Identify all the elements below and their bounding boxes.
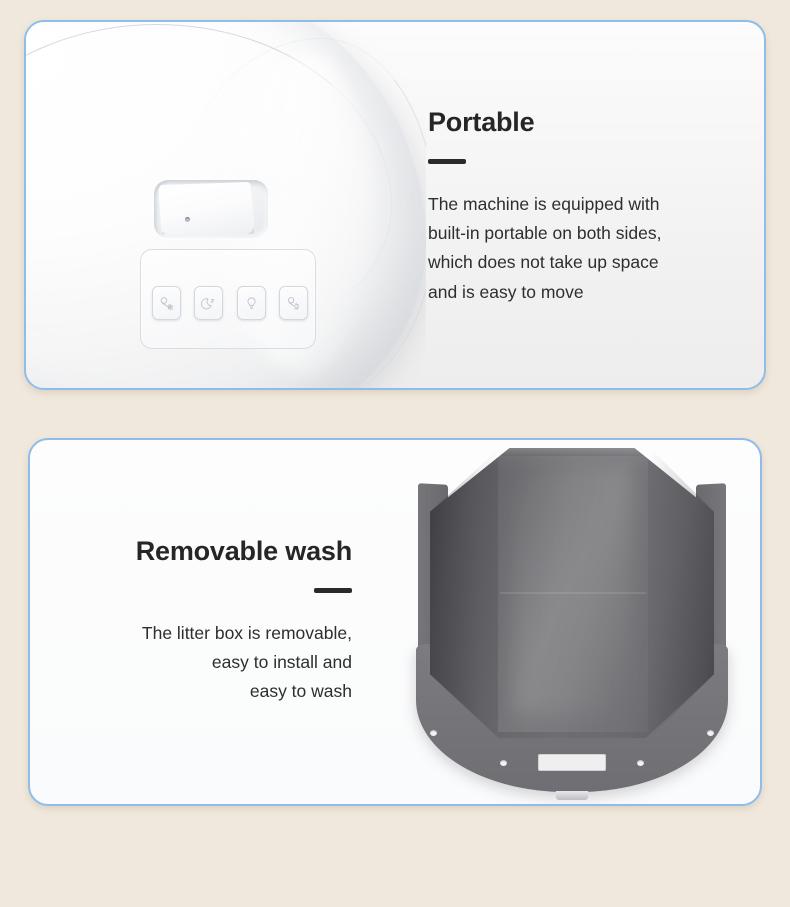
screw-hole-icon bbox=[500, 760, 507, 766]
pet-detect-button[interactable] bbox=[279, 286, 308, 320]
litter-robot-illustration bbox=[26, 22, 426, 388]
screw-hole-icon bbox=[707, 730, 714, 736]
drawer-release-tab[interactable] bbox=[556, 791, 588, 800]
page-title: Removable wash bbox=[52, 535, 352, 567]
page-title: Portable bbox=[428, 106, 758, 138]
product-feature-page: Portable The machine is equipped with bu… bbox=[0, 0, 790, 907]
drawer-label-patch bbox=[538, 754, 606, 771]
title-divider bbox=[314, 588, 352, 593]
removable-wash-text-block: Removable wash The litter box is removab… bbox=[52, 535, 352, 707]
paw-clean-icon bbox=[158, 295, 175, 312]
control-panel-buttons bbox=[152, 284, 308, 322]
night-light-button[interactable] bbox=[237, 286, 266, 320]
light-bulb-icon bbox=[243, 295, 260, 312]
portable-text-block: Portable The machine is equipped with bu… bbox=[428, 106, 758, 307]
feature-card-removable-wash: Removable wash The litter box is removab… bbox=[28, 438, 762, 806]
cat-detect-icon bbox=[285, 295, 302, 312]
sleep-mode-button[interactable] bbox=[194, 286, 223, 320]
drawer-interior-step-line bbox=[500, 592, 646, 594]
feature-description: The litter box is removable, easy to ins… bbox=[52, 619, 352, 706]
screw-hole-icon bbox=[430, 730, 437, 736]
litter-drawer-illustration bbox=[412, 444, 732, 800]
moon-sleep-icon bbox=[200, 295, 217, 312]
sensor-dot-icon bbox=[185, 217, 190, 222]
feature-card-portable: Portable The machine is equipped with bu… bbox=[24, 20, 766, 390]
feature-description: The machine is equipped with built-in po… bbox=[428, 190, 758, 306]
screw-hole-icon bbox=[637, 760, 644, 766]
manual-clean-button[interactable] bbox=[152, 286, 181, 320]
carry-handle[interactable] bbox=[158, 182, 254, 234]
title-divider bbox=[428, 159, 466, 164]
